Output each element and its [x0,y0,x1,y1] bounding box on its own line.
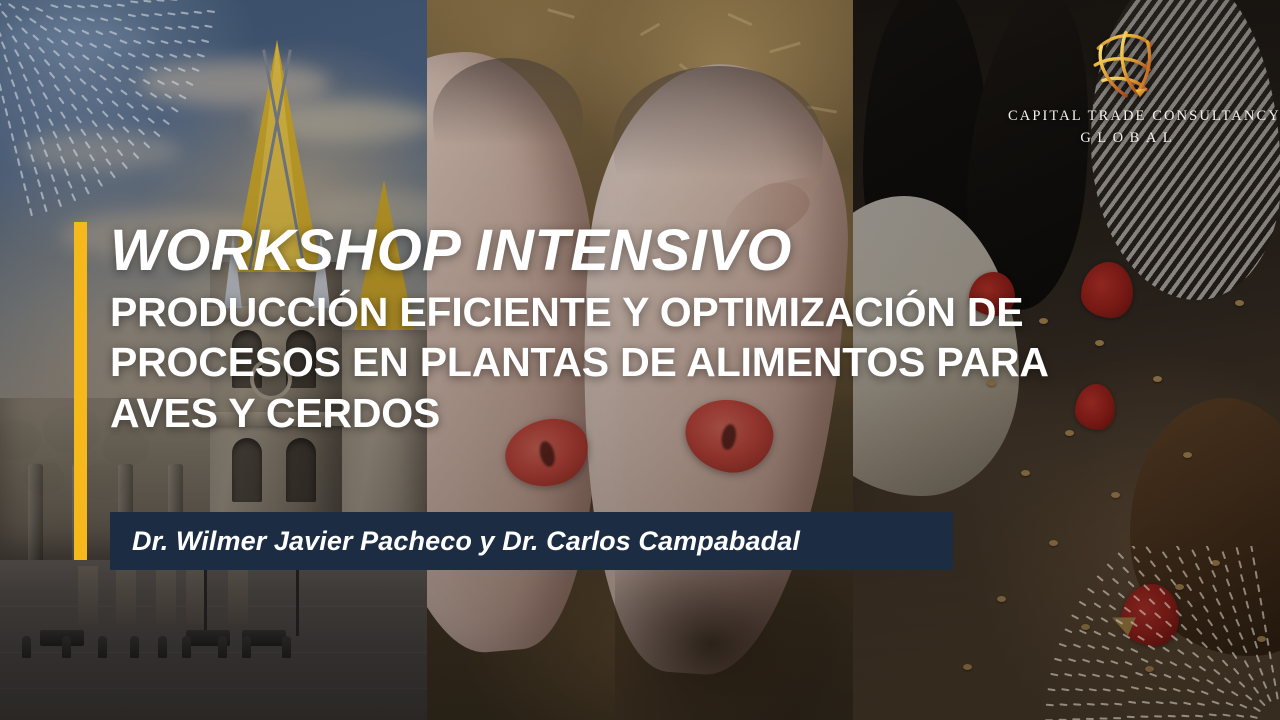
headline-kicker: WORKSHOP INTENSIVO [110,220,1190,281]
brand-logo: CAPITAL TRADE CONSULTANCY GLOBAL [1008,22,1244,147]
headline-block: WORKSHOP INTENSIVO PRODUCCIÓN EFICIENTE … [110,220,1190,438]
yellow-accent-bar [74,222,87,560]
headline-line-3: AVES Y CERDOS [110,388,1190,438]
promo-banner: WORKSHOP INTENSIVO PRODUCCIÓN EFICIENTE … [0,0,1280,720]
speaker-bar: Dr. Wilmer Javier Pacheco y Dr. Carlos C… [110,512,953,570]
speaker-names: Dr. Wilmer Javier Pacheco y Dr. Carlos C… [132,526,800,557]
content-layer: WORKSHOP INTENSIVO PRODUCCIÓN EFICIENTE … [0,0,1280,720]
logo-company-name: CAPITAL TRADE CONSULTANCY [1008,108,1244,125]
headline-line-2: PROCESOS EN PLANTAS DE ALIMENTOS PARA [110,337,1190,387]
logo-company-suffix: GLOBAL [1008,130,1244,147]
headline-line-1: PRODUCCIÓN EFICIENTE Y OPTIMIZACIÓN DE [110,287,1190,337]
globe-wireframe-icon [1087,22,1165,102]
